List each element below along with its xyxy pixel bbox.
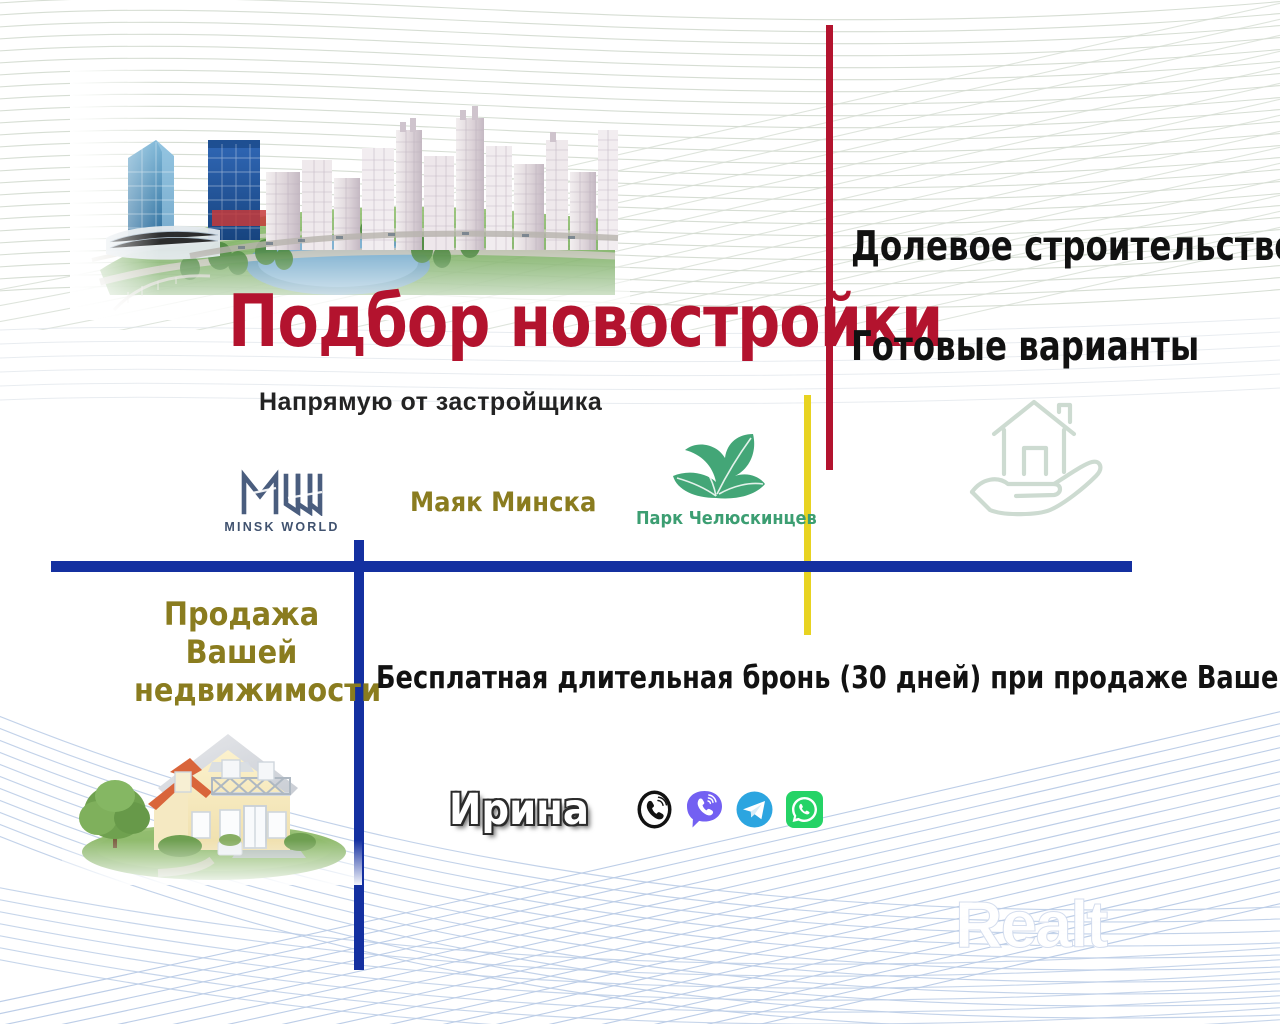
free-reservation-offer-text: Бесплатная длительная бронь (30 дней) пр… (376, 660, 1280, 696)
page-subtitle: Напрямую от застройщика (259, 388, 602, 417)
mayak-minska-label: Маяк Минска (410, 487, 596, 518)
contact-icons-group (634, 789, 825, 830)
leaf-icon (661, 432, 771, 506)
whatsapp-icon[interactable] (784, 789, 825, 830)
telegram-icon[interactable] (734, 789, 775, 830)
viber-icon[interactable] (684, 789, 725, 830)
minsk-world-label: MINSK WORLD (218, 520, 346, 534)
heading-ready-options: Готовые варианты (851, 322, 1199, 370)
minsk-world-monogram-icon (236, 468, 328, 516)
blue-horizontal-divider (51, 561, 1132, 572)
park-chelyuskintsev-label: Парк Челюскинцев (636, 508, 796, 529)
advertisement-banner: Подбор новостройки Напрямую от застройщи… (0, 0, 1280, 1024)
realt-watermark: Realt (955, 886, 1106, 962)
sale-of-your-property-text: Продажа Вашей недвижимости (134, 596, 349, 709)
page-title: Подбор новостройки (228, 285, 942, 357)
logo-mayak-minska: Маяк Минска (410, 487, 570, 518)
heading-shared-construction: Долевое строительство (851, 222, 1280, 270)
logo-minsk-world: MINSK WORLD (218, 468, 346, 534)
crimson-vertical-divider (826, 25, 833, 470)
phone-icon[interactable] (634, 789, 675, 830)
house-in-hand-icon (958, 392, 1118, 532)
logo-park-chelyuskintsev: Парк Челюскинцев (636, 432, 796, 529)
agent-name: Ирина (449, 785, 589, 835)
cottage-image (62, 700, 362, 885)
